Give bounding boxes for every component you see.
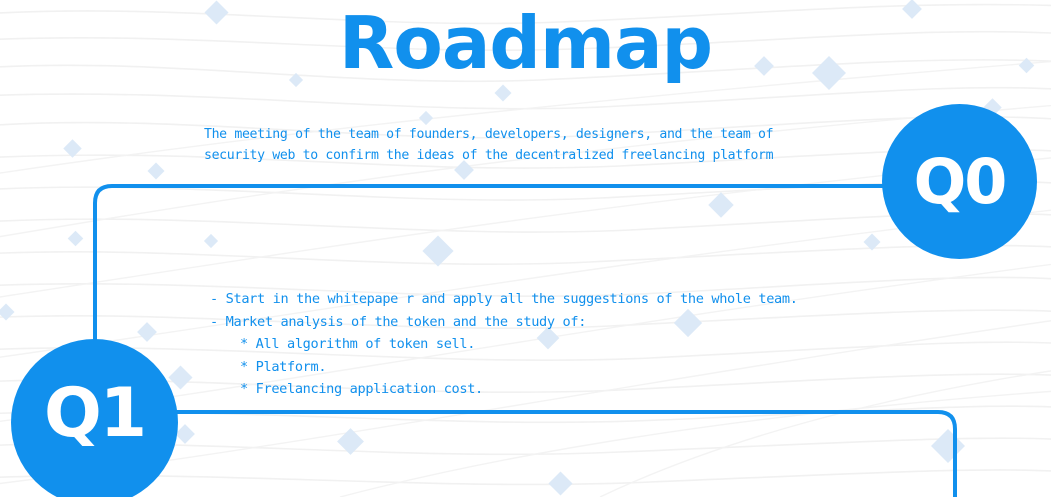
q1-bullet-1: - Start in the whitepape r and apply all…	[210, 288, 870, 311]
milestone-node-q1[interactable]: Q1	[11, 339, 178, 497]
q0-description-line-1: The meeting of the team of founders, dev…	[204, 124, 844, 145]
milestone-node-q1-label: Q1	[44, 380, 145, 448]
q1-bullet-2: - Market analysis of the token and the s…	[210, 311, 870, 334]
q1-subitem-1: * All algorithm of token sell.	[210, 333, 870, 356]
page-title: Roadmap	[0, 6, 1051, 82]
connector-q1-to-next	[150, 412, 955, 497]
milestone-node-q0-label: Q0	[914, 151, 1006, 213]
q1-subitem-2: * Platform.	[210, 356, 870, 379]
milestone-node-q0[interactable]: Q0	[882, 104, 1037, 259]
q0-description-line-2: security web to confirm the ideas of the…	[204, 145, 844, 166]
q0-description: The meeting of the team of founders, dev…	[204, 124, 844, 166]
q1-task-list: - Start in the whitepape r and apply all…	[210, 288, 870, 401]
q1-subitem-3: * Freelancing application cost.	[210, 378, 870, 401]
roadmap-slide: Roadmap The meeting of the team of found…	[0, 0, 1051, 497]
